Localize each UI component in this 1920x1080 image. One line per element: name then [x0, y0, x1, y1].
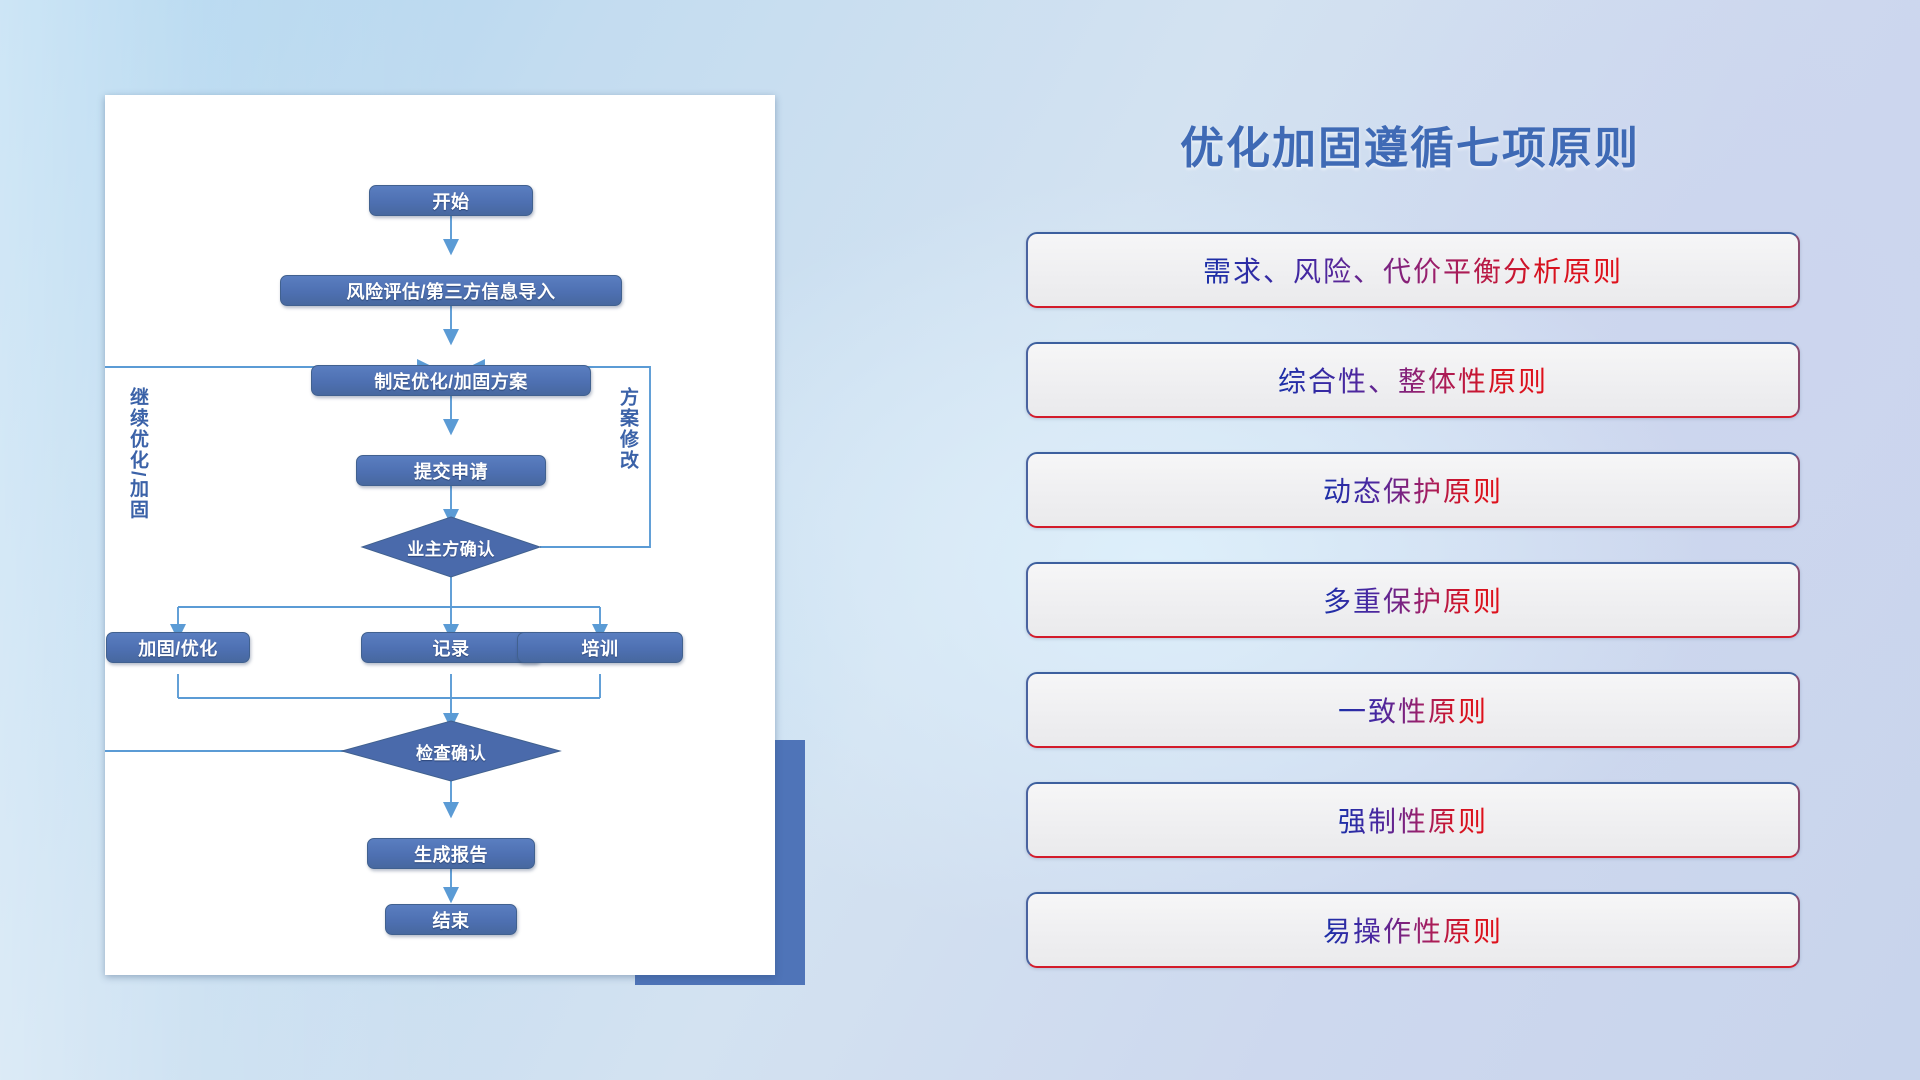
flow-node-end[interactable]: 结束 [385, 904, 517, 935]
principle-item[interactable]: 一致性原则 [1026, 672, 1800, 748]
principle-item[interactable]: 多重保护原则 [1026, 562, 1800, 638]
principle-item[interactable]: 动态保护原则 [1026, 452, 1800, 528]
flow-node-training[interactable]: 培训 [517, 632, 683, 663]
flow-node-label: 业主方确认 [407, 535, 495, 560]
principle-item[interactable]: 综合性、整体性原则 [1026, 342, 1800, 418]
principle-label: 综合性、整体性原则 [1278, 360, 1548, 400]
flow-node-owner-confirm-label[interactable]: 业主方确认 [362, 532, 540, 562]
flow-node-label: 培训 [582, 635, 619, 661]
edge-label-continue-optimize: 继续优化/加固 [127, 387, 147, 520]
principle-item[interactable]: 强制性原则 [1026, 782, 1800, 858]
principles-list: 需求、风险、代价平衡分析原则 综合性、整体性原则 动态保护原则 多重保护原则 一… [1026, 232, 1800, 1002]
flow-node-label: 生成报告 [414, 841, 488, 867]
flow-node-check-confirm-label[interactable]: 检查确认 [362, 736, 540, 766]
flow-node-label: 检查确认 [416, 739, 486, 764]
principle-label: 需求、风险、代价平衡分析原则 [1203, 250, 1623, 290]
flow-node-label: 制定优化/加固方案 [374, 368, 528, 394]
edge-label-plan-revision: 方案修改 [617, 387, 637, 471]
principle-label: 易操作性原则 [1323, 910, 1503, 950]
principle-label: 动态保护原则 [1323, 470, 1503, 510]
principle-label: 一致性原则 [1338, 690, 1488, 730]
flowchart-card: 开始 风险评估/第三方信息导入 制定优化/加固方案 提交申请 业主方确认 加固/… [105, 95, 775, 975]
flow-node-reinforce[interactable]: 加固/优化 [106, 632, 250, 663]
flow-node-label: 结束 [433, 907, 470, 933]
flow-node-label: 加固/优化 [138, 635, 218, 661]
flow-node-record[interactable]: 记录 [361, 632, 541, 663]
flow-node-report[interactable]: 生成报告 [367, 838, 535, 869]
flow-node-label: 提交申请 [414, 458, 488, 484]
flow-node-label: 开始 [433, 188, 470, 214]
flow-node-risk-assessment[interactable]: 风险评估/第三方信息导入 [280, 275, 622, 306]
principle-item[interactable]: 需求、风险、代价平衡分析原则 [1026, 232, 1800, 308]
principle-label: 多重保护原则 [1323, 580, 1503, 620]
flow-node-plan[interactable]: 制定优化/加固方案 [311, 365, 591, 396]
flow-node-label: 风险评估/第三方信息导入 [347, 278, 556, 304]
flow-node-submit[interactable]: 提交申请 [356, 455, 546, 486]
flow-node-start[interactable]: 开始 [369, 185, 533, 216]
right-panel-title: 优化加固遵循七项原则 [1000, 112, 1820, 176]
flow-node-label: 记录 [433, 635, 470, 661]
principle-item[interactable]: 易操作性原则 [1026, 892, 1800, 968]
principle-label: 强制性原则 [1338, 800, 1488, 840]
